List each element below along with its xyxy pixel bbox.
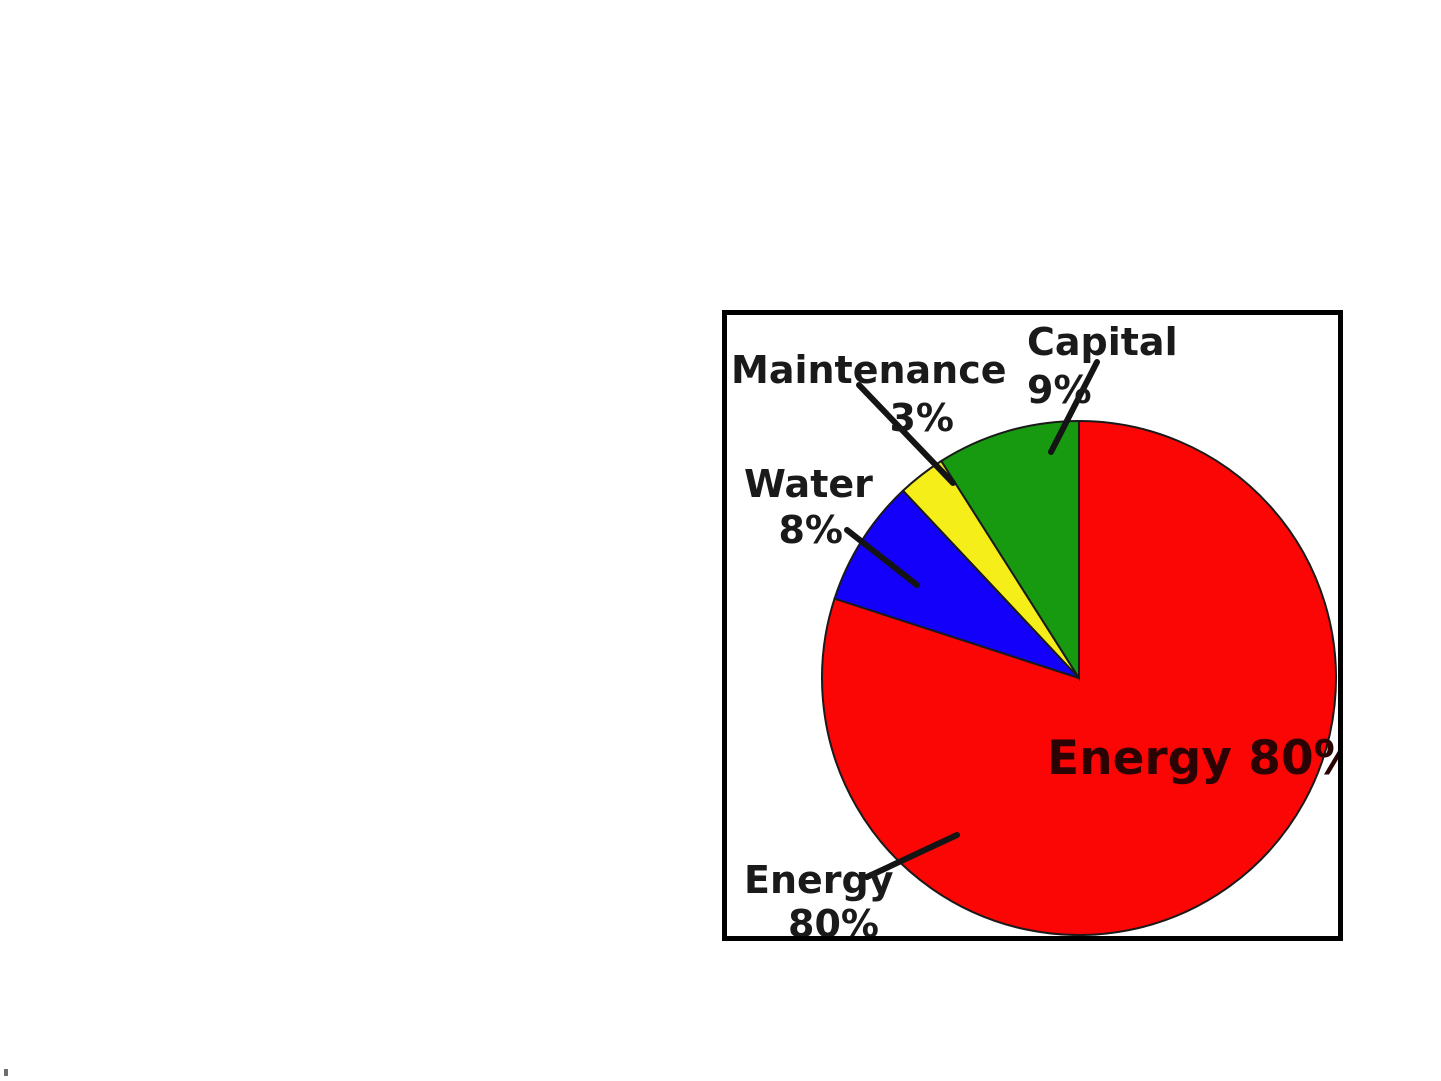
label-capital-value: 9% [1027,368,1092,412]
label-water-value: 8% [778,508,843,552]
label-energy-name: Energy [744,858,894,902]
label-water-name: Water [744,462,873,506]
label-maintenance-value: 3% [889,396,954,440]
label-energy-value: 80% [788,902,879,936]
label-maintenance-name: Maintenance [731,348,1007,392]
label-capital-name: Capital [1027,320,1178,364]
pie-chart-frame: Maintenance 3% Capital 9% Water 8% Energ… [722,310,1343,941]
pie-slices [822,421,1336,935]
label-energy-inner: Energy 80% [1047,731,1338,786]
page-speck [4,1069,8,1076]
pie-chart-figure: Maintenance 3% Capital 9% Water 8% Energ… [727,315,1338,936]
page-canvas: Maintenance 3% Capital 9% Water 8% Energ… [0,0,1441,1081]
